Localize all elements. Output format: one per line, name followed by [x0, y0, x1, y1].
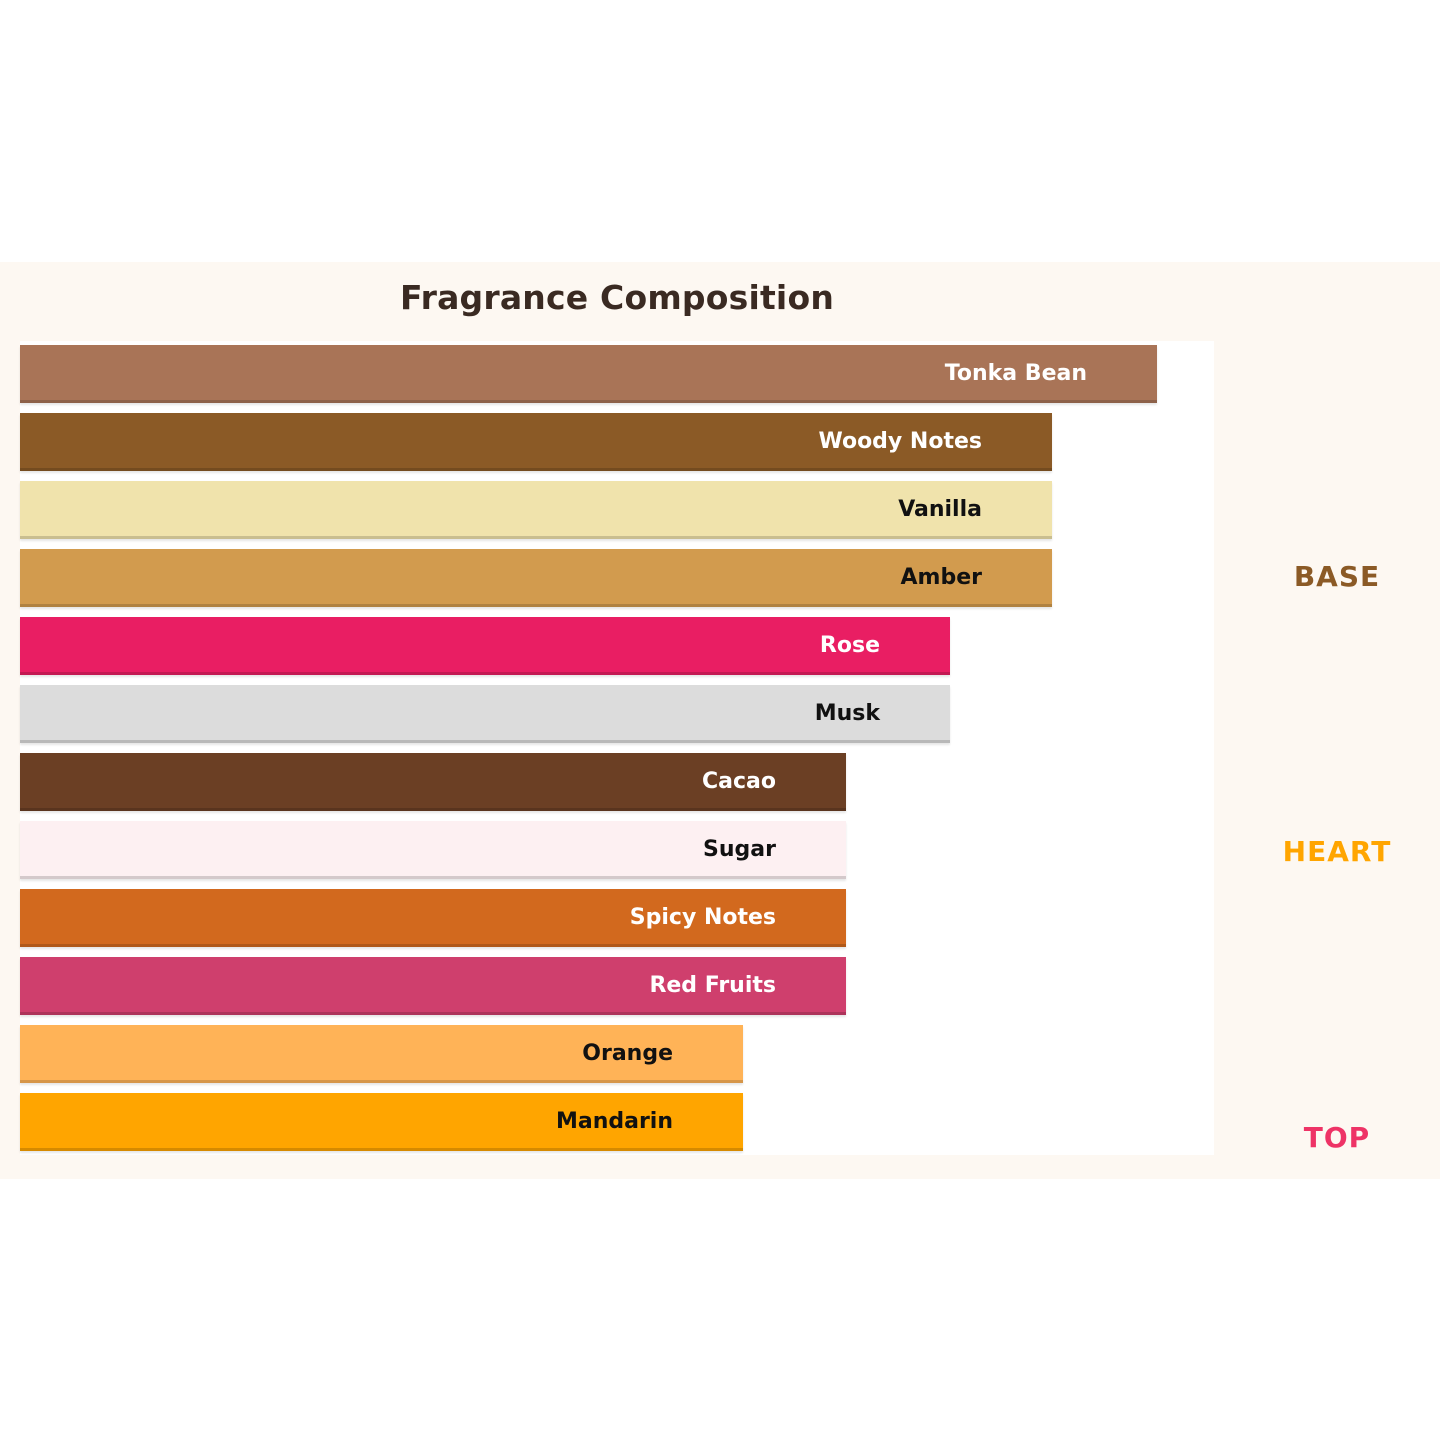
bar-label: Orange [582, 1025, 673, 1083]
bar-label: Musk [815, 685, 880, 743]
bar-label: Spicy Notes [630, 889, 776, 947]
fragrance-chart-card: Fragrance Composition Tonka BeanWoody No… [0, 262, 1440, 1179]
chart-plot-area: Tonka BeanWoody NotesVanillaAmberRoseMus… [20, 341, 1214, 1155]
bar-row: Vanilla [20, 481, 1052, 539]
page-title: Fragrance Composition [0, 278, 1234, 317]
bar-row: Rose [20, 617, 950, 675]
bar-row: Woody Notes [20, 413, 1052, 471]
bar-label: Mandarin [556, 1093, 673, 1151]
bar-segment[interactable] [20, 617, 950, 675]
bar-label: Woody Notes [818, 413, 982, 471]
bar-row: Sugar [20, 821, 846, 879]
bar-label: Red Fruits [649, 957, 776, 1015]
bar-row: Red Fruits [20, 957, 846, 1015]
bar-label: Tonka Bean [945, 345, 1087, 403]
bar-row: Tonka Bean [20, 345, 1157, 403]
bar-row: Amber [20, 549, 1052, 607]
bar-row: Musk [20, 685, 950, 743]
stage-label-base: BASE [1234, 560, 1440, 593]
bar-segment[interactable] [20, 549, 1052, 607]
bar-label: Vanilla [898, 481, 982, 539]
bar-row: Spicy Notes [20, 889, 846, 947]
bar-label: Rose [820, 617, 880, 675]
bar-row: Cacao [20, 753, 846, 811]
bar-segment[interactable] [20, 481, 1052, 539]
bar-row: Orange [20, 1025, 743, 1083]
stage-legend: BASEHEARTTOP [1234, 341, 1440, 1155]
stage-label-heart: HEART [1234, 835, 1440, 868]
bar-label: Cacao [702, 753, 776, 811]
bar-label: Sugar [703, 821, 776, 879]
bar-row: Mandarin [20, 1093, 743, 1151]
bar-segment[interactable] [20, 685, 950, 743]
stage-label-top: TOP [1234, 1121, 1440, 1154]
bar-label: Amber [901, 549, 982, 607]
